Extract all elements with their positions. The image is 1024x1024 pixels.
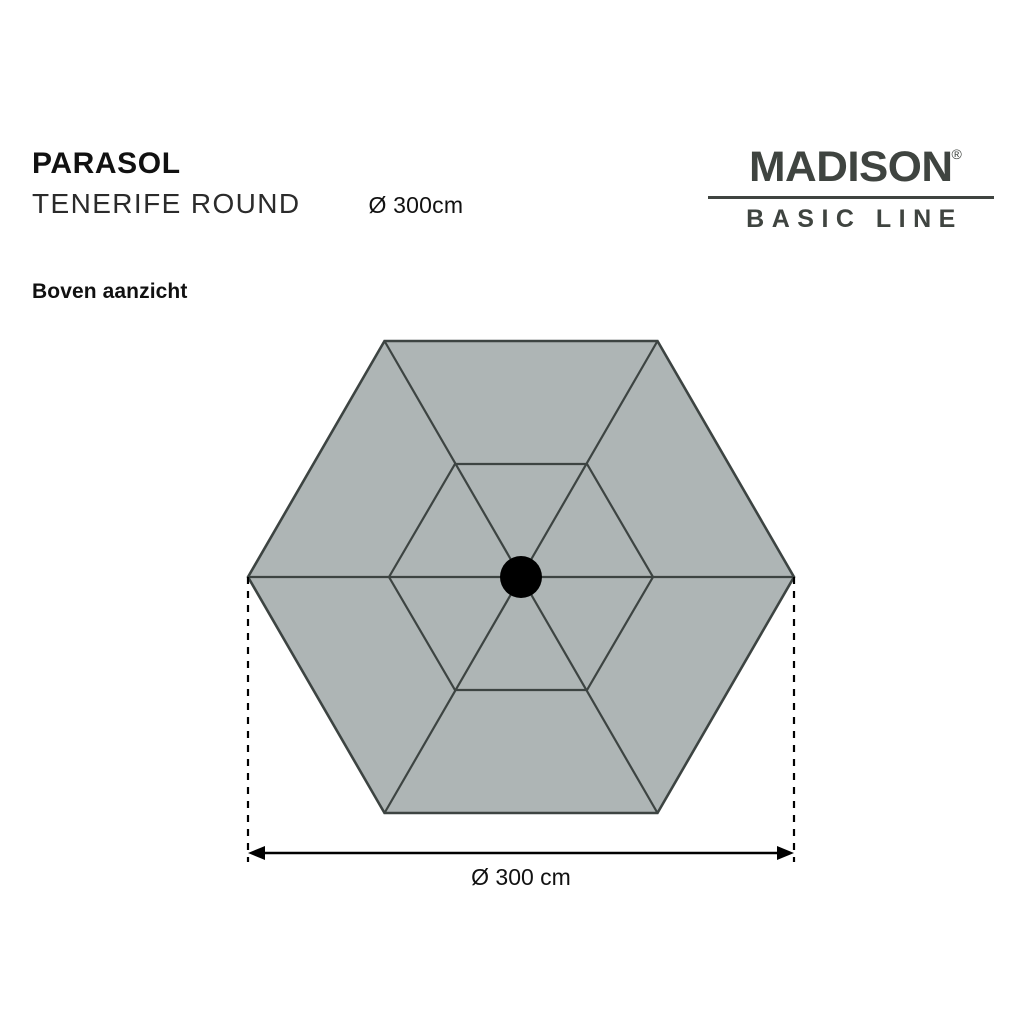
parasol-top-view-diagram: Ø 300 cm	[0, 0, 1024, 1024]
dimension-label: Ø 300 cm	[471, 864, 571, 890]
arrowhead-left-icon	[248, 846, 265, 860]
dimension-arrow	[248, 846, 794, 860]
center-pole-icon	[500, 556, 542, 598]
arrowhead-right-icon	[777, 846, 794, 860]
